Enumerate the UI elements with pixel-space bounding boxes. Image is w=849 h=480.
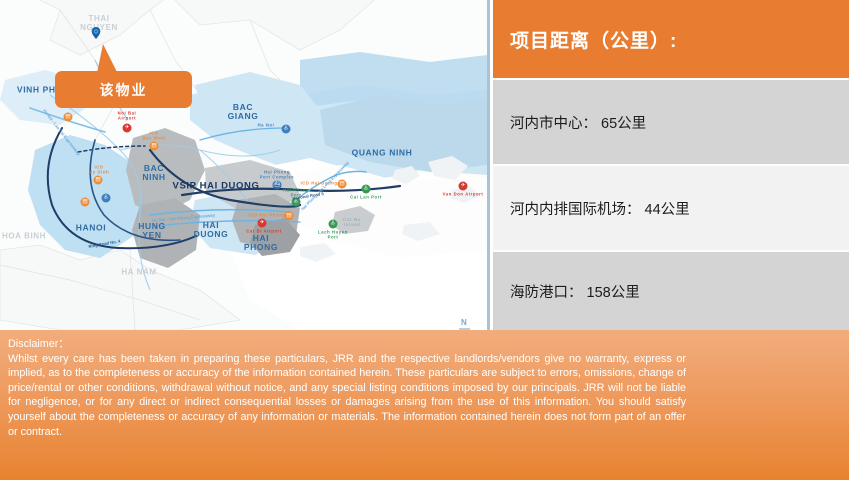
disclaimer-body: Whilst every care has been taken in prep…: [8, 352, 686, 440]
distance-row-text: 河内内排国际机场： 44公里: [510, 198, 690, 219]
compass-label: N: [461, 318, 467, 327]
cai-lan-port-icon[interactable]: ⚓: [362, 185, 371, 194]
property-callout[interactable]: 该物业: [55, 71, 192, 108]
hai-phong-port-icon[interactable]: ⚓: [292, 198, 301, 207]
van-don-airport-icon[interactable]: ✈: [459, 182, 468, 191]
map-panel[interactable]: THAINGUYEN VINH PHUC BACGIANG QUANG NINH…: [0, 0, 487, 330]
slide-root: THAINGUYEN VINH PHUC BACGIANG QUANG NINH…: [0, 0, 849, 480]
dong-anh-icd-icon[interactable]: ▤: [64, 113, 73, 122]
distance-row-text: 海防港口： 158公里: [510, 281, 640, 302]
icd-bac-ninh-icon[interactable]: ▤: [150, 142, 159, 151]
ha-dong-icd-icon[interactable]: ▤: [81, 198, 90, 207]
disclaimer-text-block: Disclaimer： Whilst every care has been t…: [8, 337, 686, 439]
property-map-pin-icon[interactable]: [90, 27, 103, 40]
distance-row-airport: 河内内排国际机场： 44公里: [493, 166, 849, 250]
distance-row-port: 海防港口： 158公里: [493, 252, 849, 330]
hai-phong-port-complex-icon[interactable]: ⛴: [273, 181, 282, 190]
icd-hai-phong-icon[interactable]: ▤: [285, 212, 294, 221]
disclaimer-title: Disclaimer：: [8, 337, 686, 352]
distance-row-city-center: 河内市中心： 65公里: [493, 80, 849, 164]
disclaimer-band: Disclaimer： Whilst every care has been t…: [0, 330, 849, 480]
icd-hai-duong-icon[interactable]: ▤: [338, 180, 347, 189]
distance-table-header: 项目距离（公里）:: [493, 0, 849, 78]
lach-huyen-port-icon[interactable]: ⚓: [329, 220, 338, 229]
distance-row-text: 河内市中心： 65公里: [510, 112, 646, 133]
property-callout-label: 该物业: [100, 80, 148, 100]
ha-noi-route-icon[interactable]: ⚓: [282, 125, 291, 134]
icd-my-dinh-icon[interactable]: ▤: [94, 176, 103, 185]
distance-table-panel: 项目距离（公里）: 河内市中心： 65公里 河内内排国际机场： 44公里 海防港…: [493, 0, 849, 330]
noi-bai-airport-icon[interactable]: ✈: [123, 124, 132, 133]
map-graphic: [0, 0, 487, 330]
panel-divider: [487, 0, 490, 330]
cat-bi-airport-icon[interactable]: ✈: [258, 219, 267, 228]
compass-north-icon: N: [461, 318, 467, 327]
distance-table-title: 项目距离（公里）:: [510, 26, 677, 53]
my-dinh-icon[interactable]: ⚓: [102, 194, 111, 203]
